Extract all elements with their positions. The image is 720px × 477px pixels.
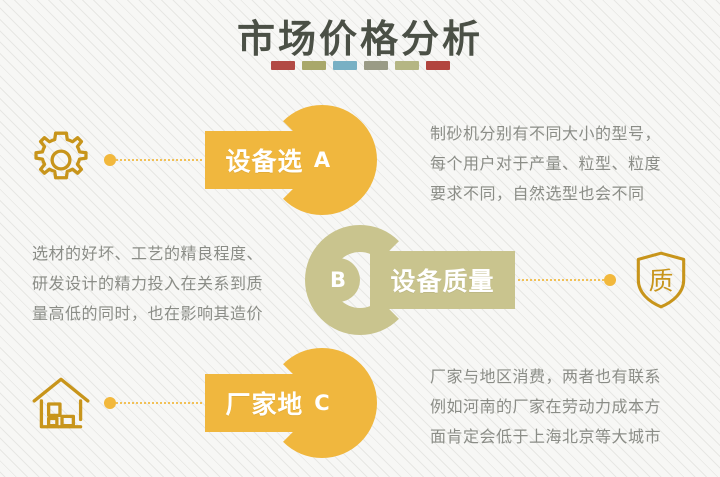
connector-dot xyxy=(104,154,116,166)
section-b-letter-badge: B xyxy=(316,258,360,302)
connector-line xyxy=(518,279,616,281)
dash-6 xyxy=(426,61,450,70)
connector-line xyxy=(104,159,202,161)
page-title: 市场价格分析 xyxy=(0,8,720,63)
connector-c xyxy=(104,397,202,409)
shield-glyph: 质 xyxy=(649,266,674,295)
section-c-paragraph: 厂家与地区消费，两者也有联系 例如河南的厂家在劳动力成本方 面肯定会低于上海北京… xyxy=(430,362,695,452)
dash-4 xyxy=(364,61,388,70)
dash-3 xyxy=(333,61,357,70)
infographic-canvas: 市场价格分析 设备选型 A 制砂机分别有不同大小的型号， xyxy=(0,0,720,477)
paragraph-line: 研发设计的精力投入在关系到质 xyxy=(32,269,297,299)
connector-line xyxy=(104,402,202,404)
section-b-paragraph: 选材的好坏、工艺的精良程度、 研发设计的精力投入在关系到质 量高低的同时，也在影… xyxy=(32,239,297,329)
connector-dot xyxy=(604,274,616,286)
paragraph-line: 制砂机分别有不同大小的型号， xyxy=(430,119,695,149)
section-a-letter-badge: A xyxy=(300,138,344,182)
paragraph-line: 厂家与地区消费，两者也有联系 xyxy=(430,362,695,392)
section-b-label: 设备质量 xyxy=(390,262,494,298)
paragraph-line: 每个用户对于产量、粒型、粒度 xyxy=(430,149,695,179)
paragraph-line: 要求不同，自然选型也会不同 xyxy=(430,179,695,209)
section-a-paragraph: 制砂机分别有不同大小的型号， 每个用户对于产量、粒型、粒度 要求不同，自然选型也… xyxy=(430,119,695,209)
title-divider-dashes xyxy=(0,61,720,70)
paragraph-line: 例如河南的厂家在劳动力成本方 xyxy=(430,392,695,422)
section-row-c: 厂家地区 C 厂家与地区消费，两者也有联系 例如河南的厂家在劳动力成本方 面肯定… xyxy=(0,348,720,458)
dash-2 xyxy=(302,61,326,70)
section-b-bar[interactable]: 设备质量 xyxy=(370,251,515,309)
dash-1 xyxy=(271,61,295,70)
gear-icon xyxy=(28,127,94,193)
paragraph-line: 量高低的同时，也在影响其造价 xyxy=(32,299,297,329)
paragraph-line: 选材的好坏、工艺的精良程度、 xyxy=(32,239,297,269)
connector-b xyxy=(518,274,616,286)
paragraph-line: 面肯定会低于上海北京等大城市 xyxy=(430,422,695,452)
connector-dot xyxy=(104,397,116,409)
house-icon xyxy=(28,370,94,436)
section-c-letter-badge: C xyxy=(300,381,344,425)
connector-a xyxy=(104,154,202,166)
section-row-b: 选材的好坏、工艺的精良程度、 研发设计的精力投入在关系到质 量高低的同时，也在影… xyxy=(0,225,720,335)
shield-quality-icon: 质 xyxy=(628,247,694,313)
dash-5 xyxy=(395,61,419,70)
section-row-a: 设备选型 A 制砂机分别有不同大小的型号， 每个用户对于产量、粒型、粒度 要求不… xyxy=(0,105,720,215)
